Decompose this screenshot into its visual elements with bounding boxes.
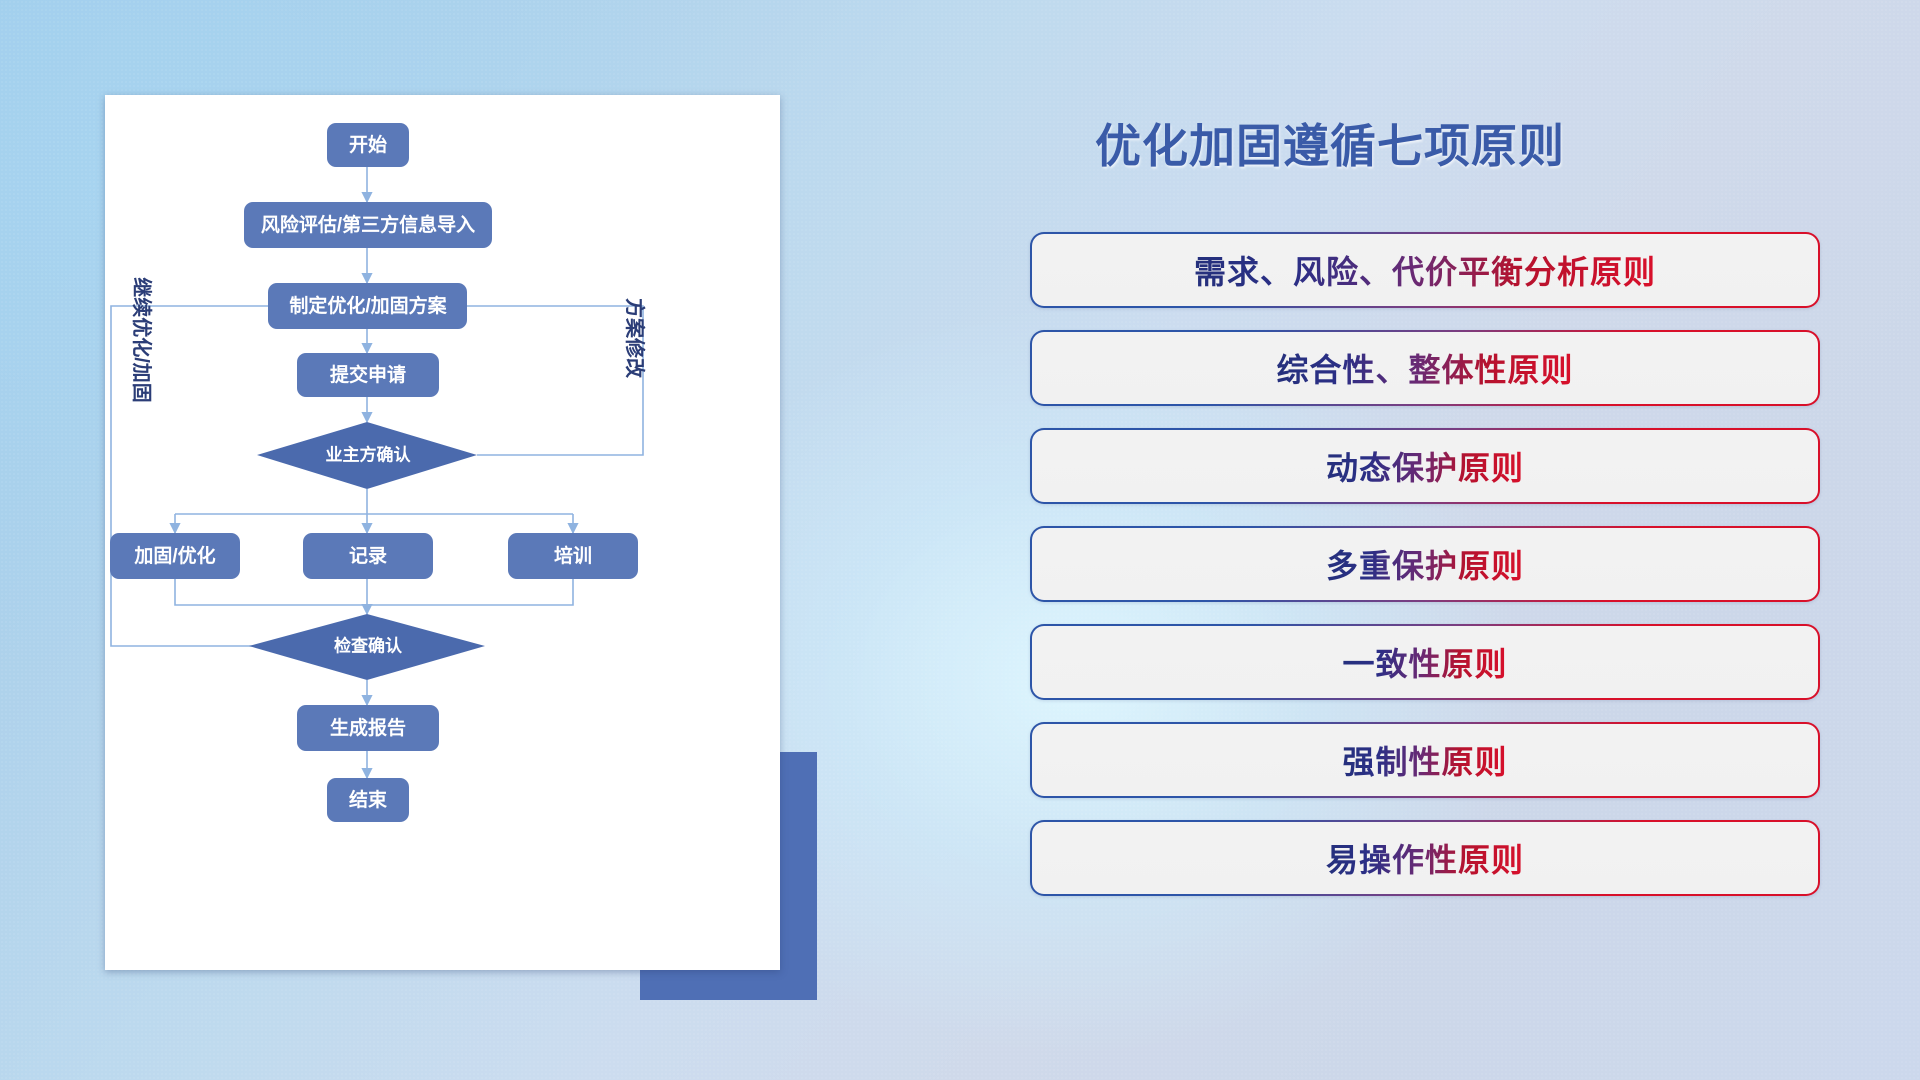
flow-node-record-label: 记录	[349, 545, 387, 567]
principle-label-5: 一致性原则	[1342, 639, 1507, 685]
principle-card-3[interactable]: 动态保护原则	[1030, 428, 1820, 504]
flow-node-plan-label: 制定优化/加固方案	[289, 294, 447, 317]
principle-label-7: 易操作性原则	[1326, 835, 1524, 881]
flow-node-training-label: 培训	[554, 544, 592, 567]
flow-node-make-plan[interactable]: 制定优化/加固方案	[268, 283, 467, 329]
flow-node-submit-label: 提交申请	[330, 363, 406, 386]
page-title: 优化加固遵循七项原则	[1010, 110, 1650, 176]
flow-node-reinforce-label: 加固/优化	[133, 544, 215, 567]
principle-list: 需求、风险、代价平衡分析原则 综合性、整体性原则 动态保护原则 多重保护原则 一…	[1030, 232, 1820, 918]
principle-label-6: 强制性原则	[1342, 737, 1507, 783]
flow-node-owner-confirm-label: 业主方确认	[326, 444, 412, 464]
flow-node-start-label: 开始	[349, 133, 387, 156]
flow-node-end[interactable]: 结束	[327, 778, 409, 822]
flow-node-start[interactable]: 开始	[327, 123, 409, 167]
flow-node-risk-label: 风险评估/第三方信息导入	[261, 213, 475, 236]
principle-label-3: 动态保护原则	[1326, 443, 1524, 489]
flow-node-submit-application[interactable]: 提交申请	[297, 353, 439, 397]
principle-card-7[interactable]: 易操作性原则	[1030, 820, 1820, 896]
slide-canvas: 开始 风险评估/第三方信息导入 制定优化/加固方案 提交申请	[0, 0, 1920, 1080]
edge-label-continue-optimize: 继续优化/加固	[130, 277, 154, 403]
flow-node-reinforce[interactable]: 加固/优化	[110, 533, 240, 579]
edge-label-plan-revision: 方案修改	[623, 298, 647, 379]
flowchart-diagram: 开始 风险评估/第三方信息导入 制定优化/加固方案 提交申请	[105, 95, 780, 970]
flow-node-risk-assessment[interactable]: 风险评估/第三方信息导入	[244, 202, 492, 248]
principle-card-5[interactable]: 一致性原则	[1030, 624, 1820, 700]
principle-card-6[interactable]: 强制性原则	[1030, 722, 1820, 798]
principle-label-2: 综合性、整体性原则	[1276, 345, 1573, 391]
flow-node-check-confirm[interactable]: 检查确认	[249, 614, 485, 680]
principle-card-2[interactable]: 综合性、整体性原则	[1030, 330, 1820, 406]
edge-merge-bus	[175, 579, 573, 605]
principle-label-1: 需求、风险、代价平衡分析原则	[1194, 247, 1656, 293]
flow-node-owner-confirm[interactable]: 业主方确认	[257, 422, 477, 489]
flowchart-panel: 开始 风险评估/第三方信息导入 制定优化/加固方案 提交申请	[0, 0, 830, 1080]
principles-panel: 优化加固遵循七项原则 需求、风险、代价平衡分析原则 综合性、整体性原则 动态保护…	[1010, 0, 1920, 1080]
principle-card-4[interactable]: 多重保护原则	[1030, 526, 1820, 602]
flow-node-report-label: 生成报告	[330, 716, 406, 739]
flow-node-training[interactable]: 培训	[508, 533, 638, 579]
principle-card-1[interactable]: 需求、风险、代价平衡分析原则	[1030, 232, 1820, 308]
flow-node-end-label: 结束	[349, 788, 388, 811]
flowchart-card: 开始 风险评估/第三方信息导入 制定优化/加固方案 提交申请	[105, 95, 780, 970]
flow-node-generate-report[interactable]: 生成报告	[297, 705, 439, 751]
flow-node-record[interactable]: 记录	[303, 533, 433, 579]
flow-node-check-confirm-label: 检查确认	[334, 635, 403, 655]
principle-label-4: 多重保护原则	[1326, 541, 1524, 587]
